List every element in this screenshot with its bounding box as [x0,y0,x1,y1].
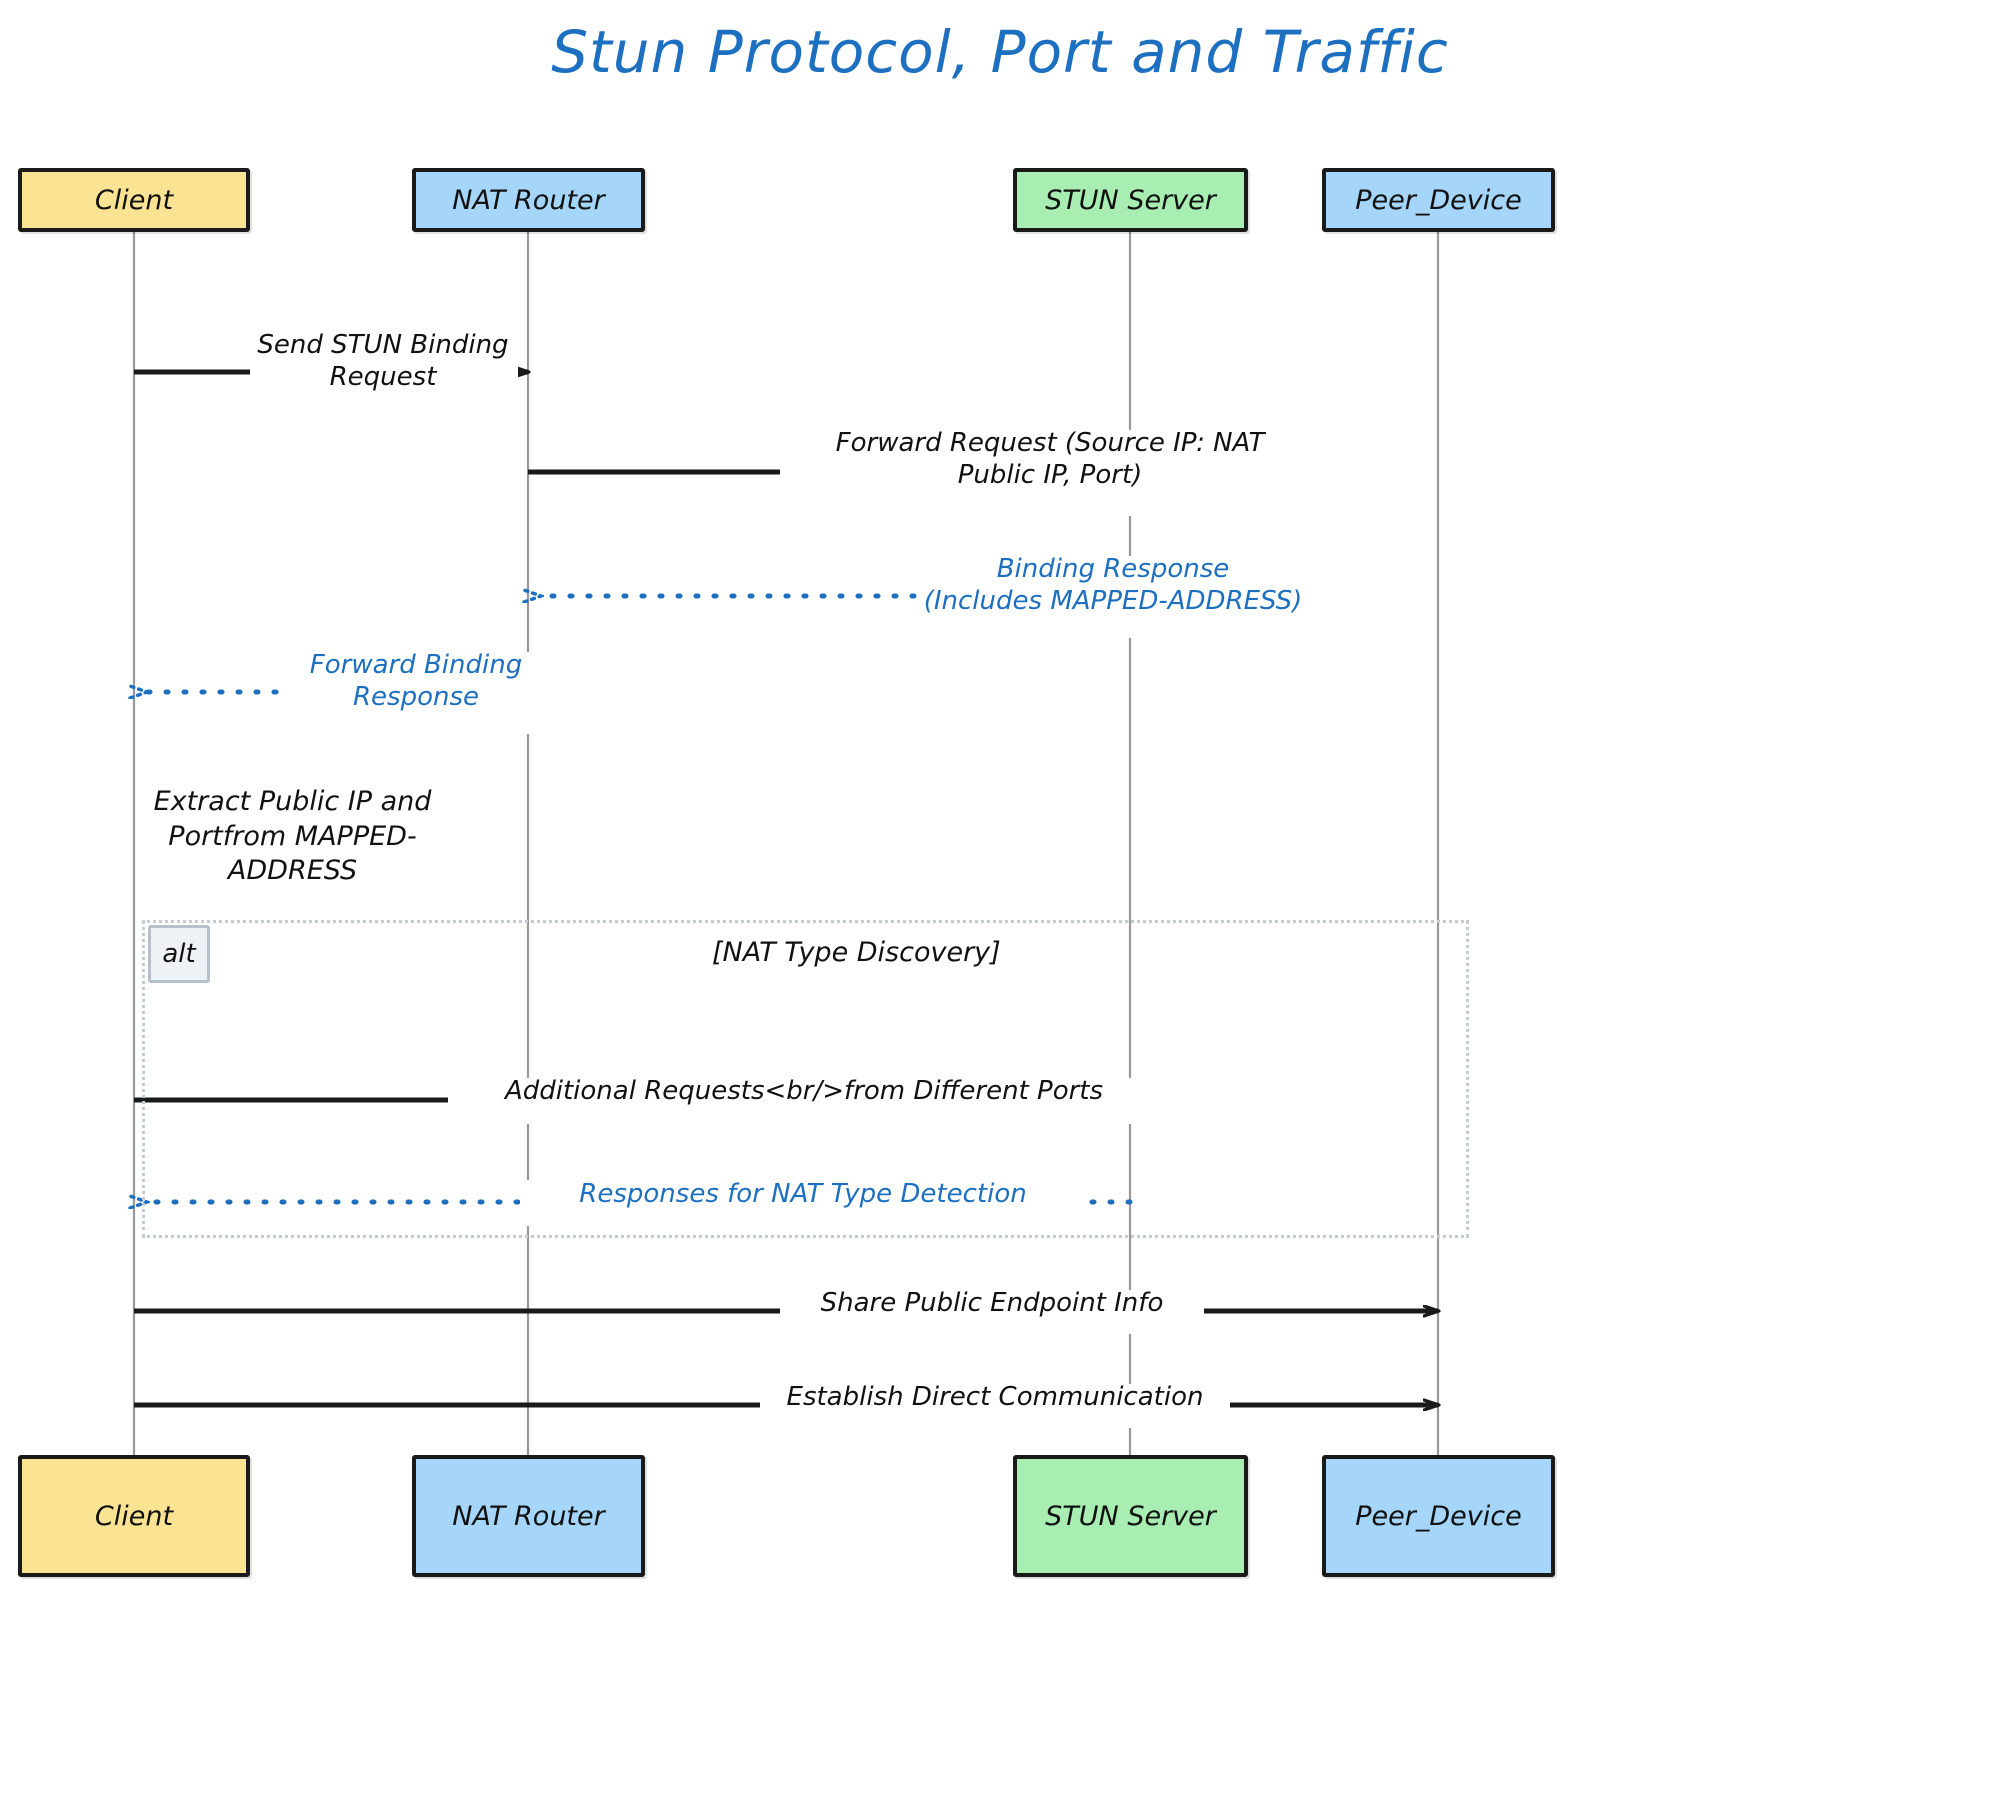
alt-fragment-condition: [NAT Type Discovery] [712,937,1001,968]
alt-fragment-tag[interactable]: alt [148,925,210,983]
participant-label: Peer_Device [1355,1501,1521,1532]
participant-box-nat-top[interactable]: NAT Router [412,168,645,232]
participant-box-stun-bottom[interactable]: STUN Server [1013,1455,1248,1577]
participant-label: NAT Router [452,185,604,216]
participant-label: Peer_Device [1355,185,1521,216]
alt-fragment-tag-label: alt [162,939,195,969]
participant-box-nat-bottom[interactable]: NAT Router [412,1455,645,1577]
participant-label: Client [95,185,173,216]
note-extract-public-ip: Extract Public IP and Portfrom MAPPED- A… [110,785,475,889]
diagram-vector-layer: NAT Router (dotted, blue) ===== --> Clie… [0,0,2000,1798]
participant-box-peer-bottom[interactable]: Peer_Device [1322,1455,1555,1577]
participant-label: STUN Server [1045,185,1216,216]
participant-label: Client [95,1501,173,1532]
participant-label: STUN Server [1045,1501,1216,1532]
sequence-diagram-canvas: Stun Protocol, Port and Traffic NAT Rout… [0,0,2000,1798]
participant-box-stun-top[interactable]: STUN Server [1013,168,1248,232]
participant-box-client-top[interactable]: Client [18,168,250,232]
participant-box-peer-top[interactable]: Peer_Device [1322,168,1555,232]
participant-label: NAT Router [452,1501,604,1532]
participant-box-client-bottom[interactable]: Client [18,1455,250,1577]
